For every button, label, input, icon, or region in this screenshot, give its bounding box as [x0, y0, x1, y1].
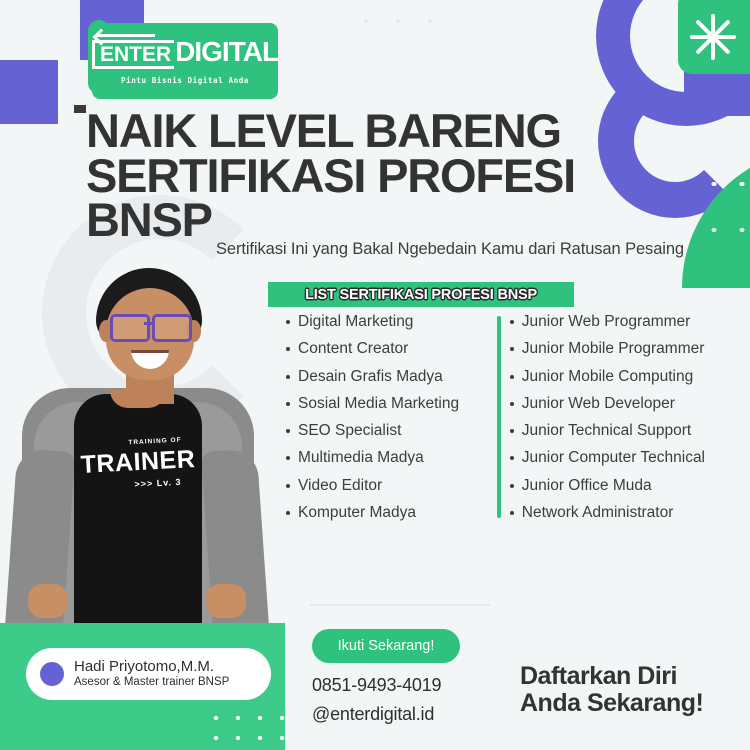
register-cta: Daftarkan Diri Anda Sekarang! — [520, 663, 703, 717]
bullet-icon — [510, 402, 514, 406]
register-cta-line-2: Anda Sekarang! — [520, 690, 703, 717]
logo-digital-text: DIGITAL — [175, 38, 278, 66]
bullet-icon — [510, 375, 514, 379]
list-item-label: Content Creator — [298, 341, 408, 357]
bullet-icon — [510, 484, 514, 488]
bullet-icon — [286, 347, 290, 351]
speaker-role: Asesor & Master trainer BNSP — [74, 676, 229, 689]
bullet-icon — [286, 402, 290, 406]
speaker-name: Hadi Priyotomo,M.M. — [74, 659, 229, 676]
trainer-photo: TRAINING OF TRAINER >>> Lv. 3 — [0, 262, 280, 662]
list-item-label: Desain Grafis Madya — [298, 369, 443, 385]
dark-accent-square-icon — [74, 105, 86, 113]
logo-enter-text: ENTER — [92, 40, 174, 69]
list-item: Digital Marketing — [286, 314, 488, 330]
list-item-label: SEO Specialist — [298, 423, 401, 439]
list-item-label: Video Editor — [298, 478, 382, 494]
dot-grid-right-white-icon — [700, 172, 750, 206]
register-cta-line-1: Daftarkan Diri — [520, 663, 703, 690]
list-item: Video Editor — [286, 478, 488, 494]
list-banner-label: LIST SERTIFIKASI PROFESI BNSP — [305, 287, 537, 303]
headline-line-1: NAIK LEVEL BARENG — [86, 109, 606, 154]
list-item-label: Junior Computer Technical — [522, 450, 705, 466]
bullet-icon — [510, 511, 514, 515]
list-item-label: Komputer Madya — [298, 505, 416, 521]
glasses-right-lens-icon — [152, 314, 192, 342]
list-item: Multimedia Madya — [286, 450, 488, 466]
list-item: Junior Web Programmer — [510, 314, 750, 330]
list-item-label: Junior Mobile Computing — [522, 369, 693, 385]
list-item-label: Junior Web Developer — [522, 396, 675, 412]
subtitle: Sertifikasi Ini yang Bakal Ngebedain Kam… — [216, 240, 684, 259]
asterisk-star-icon — [690, 14, 736, 60]
certification-list-left: Digital Marketing Content Creator Desain… — [286, 314, 488, 532]
list-item-label: Junior Technical Support — [522, 423, 691, 439]
list-item-label: Junior Office Muda — [522, 478, 652, 494]
list-item: Content Creator — [286, 341, 488, 357]
dot-grid-right-grey-icon — [700, 218, 750, 252]
glasses-left-lens-icon — [110, 314, 150, 342]
certification-list-right: Junior Web Programmer Junior Mobile Prog… — [488, 314, 750, 532]
bullet-icon — [510, 429, 514, 433]
list-item: Sosial Media Marketing — [286, 396, 488, 412]
follow-now-label: Ikuti Sekarang! — [338, 638, 435, 654]
page-title: NAIK LEVEL BARENG SERTIFIKASI PROFESI BN… — [86, 109, 606, 243]
headline-line-2: SERTIFIKASI PROFESI — [86, 154, 606, 199]
instagram-handle[interactable]: @enterdigital.id — [312, 704, 434, 725]
list-item-label: Digital Marketing — [298, 314, 413, 330]
bullet-icon — [286, 456, 290, 460]
promo-poster: ENTER DIGITAL Pintu Bisnis Digital Anda … — [0, 0, 750, 750]
bullet-icon — [510, 347, 514, 351]
bullet-icon — [286, 429, 290, 433]
list-item: Junior Mobile Programmer — [510, 341, 750, 357]
speaker-text: Hadi Priyotomo,M.M. Asesor & Master trai… — [74, 659, 229, 689]
left-hand-shape — [28, 584, 68, 618]
list-item: Junior Computer Technical — [510, 450, 750, 466]
list-banner: LIST SERTIFIKASI PROFESI BNSP — [268, 282, 574, 307]
logo-tagline: Pintu Bisnis Digital Anda — [121, 76, 249, 85]
list-item-label: Network Administrator — [522, 505, 674, 521]
phone-number[interactable]: 0851-9493-4019 — [312, 675, 441, 696]
purple-square-left-icon — [0, 60, 58, 124]
glasses-bridge-icon — [144, 322, 152, 325]
list-item: Junior Technical Support — [510, 423, 750, 439]
bullet-icon — [286, 511, 290, 515]
headline-line-3: BNSP — [86, 198, 606, 243]
list-item: Network Administrator — [510, 505, 750, 521]
list-item-label: Sosial Media Marketing — [298, 396, 459, 412]
list-item: Desain Grafis Madya — [286, 369, 488, 385]
dot-grid-panel-icon — [205, 708, 285, 750]
list-item-label: Junior Web Programmer — [522, 314, 691, 330]
list-item: Junior Mobile Computing — [510, 369, 750, 385]
list-item: Junior Office Muda — [510, 478, 750, 494]
list-item: Junior Web Developer — [510, 396, 750, 412]
follow-now-button[interactable]: Ikuti Sekarang! — [312, 629, 460, 663]
bullet-icon — [510, 320, 514, 324]
bullet-icon — [286, 484, 290, 488]
certification-lists: Digital Marketing Content Creator Desain… — [286, 314, 750, 532]
bullet-icon — [286, 320, 290, 324]
bullet-icon — [286, 375, 290, 379]
dot-grid-top-icon — [350, 8, 450, 46]
speaker-card: Hadi Priyotomo,M.M. Asesor & Master trai… — [26, 648, 271, 700]
logo-wordmark: ENTER DIGITAL — [92, 38, 278, 69]
avatar — [40, 662, 64, 686]
list-item: Komputer Madya — [286, 505, 488, 521]
brand-logo: ENTER DIGITAL Pintu Bisnis Digital Anda — [92, 23, 278, 99]
contact-divider — [310, 604, 490, 606]
list-item: SEO Specialist — [286, 423, 488, 439]
bullet-icon — [510, 456, 514, 460]
list-item-label: Junior Mobile Programmer — [522, 341, 705, 357]
right-hand-shape — [206, 584, 246, 618]
list-item-label: Multimedia Madya — [298, 450, 424, 466]
